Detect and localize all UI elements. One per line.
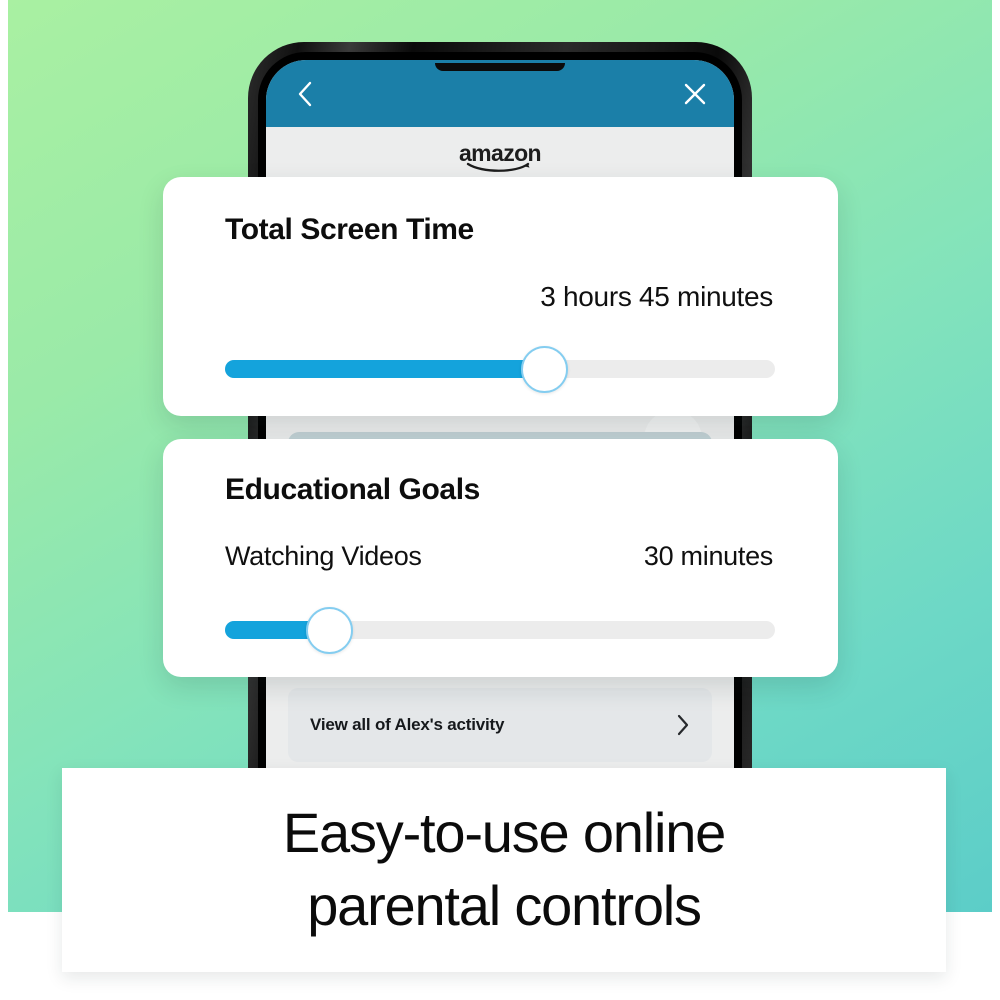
- card-title-total-screen-time: Total Screen Time: [225, 213, 474, 247]
- card-educational-goals: Educational Goals Watching Videos 30 min…: [163, 439, 838, 677]
- card-title-educational-goals: Educational Goals: [225, 473, 480, 507]
- close-x-icon[interactable]: [678, 77, 712, 111]
- amazon-logo: amazon: [450, 142, 550, 165]
- phone-mockup: amazon View all of Alex's activity: [248, 42, 752, 802]
- phone-screen: amazon View all of Alex's activity: [266, 60, 734, 802]
- educational-goals-row-label: Watching Videos: [225, 541, 422, 572]
- view-activity-label: View all of Alex's activity: [310, 715, 504, 735]
- educational-goals-slider[interactable]: [225, 621, 775, 639]
- educational-goals-row: Watching Videos 30 minutes: [225, 541, 773, 572]
- promo-image-stage: amazon View all of Alex's activity: [0, 0, 1000, 1000]
- amazon-smile-icon: [466, 160, 534, 174]
- caption-line-1: Easy-to-use online: [283, 797, 725, 870]
- slider-thumb[interactable]: [306, 607, 353, 654]
- phone-notch: [435, 63, 565, 71]
- total-screen-time-slider[interactable]: [225, 360, 775, 378]
- card-total-screen-time: Total Screen Time 3 hours 45 minutes: [163, 177, 838, 416]
- caption-banner: Easy-to-use online parental controls: [62, 768, 946, 972]
- slider-fill: [225, 360, 544, 378]
- educational-goals-row-value: 30 minutes: [644, 541, 773, 572]
- slider-thumb[interactable]: [521, 346, 568, 393]
- view-activity-row[interactable]: View all of Alex's activity: [288, 688, 712, 762]
- caption-line-2: parental controls: [307, 870, 701, 943]
- chevron-left-icon[interactable]: [288, 77, 322, 111]
- chevron-right-icon[interactable]: [676, 714, 690, 736]
- total-screen-time-value: 3 hours 45 minutes: [540, 281, 773, 313]
